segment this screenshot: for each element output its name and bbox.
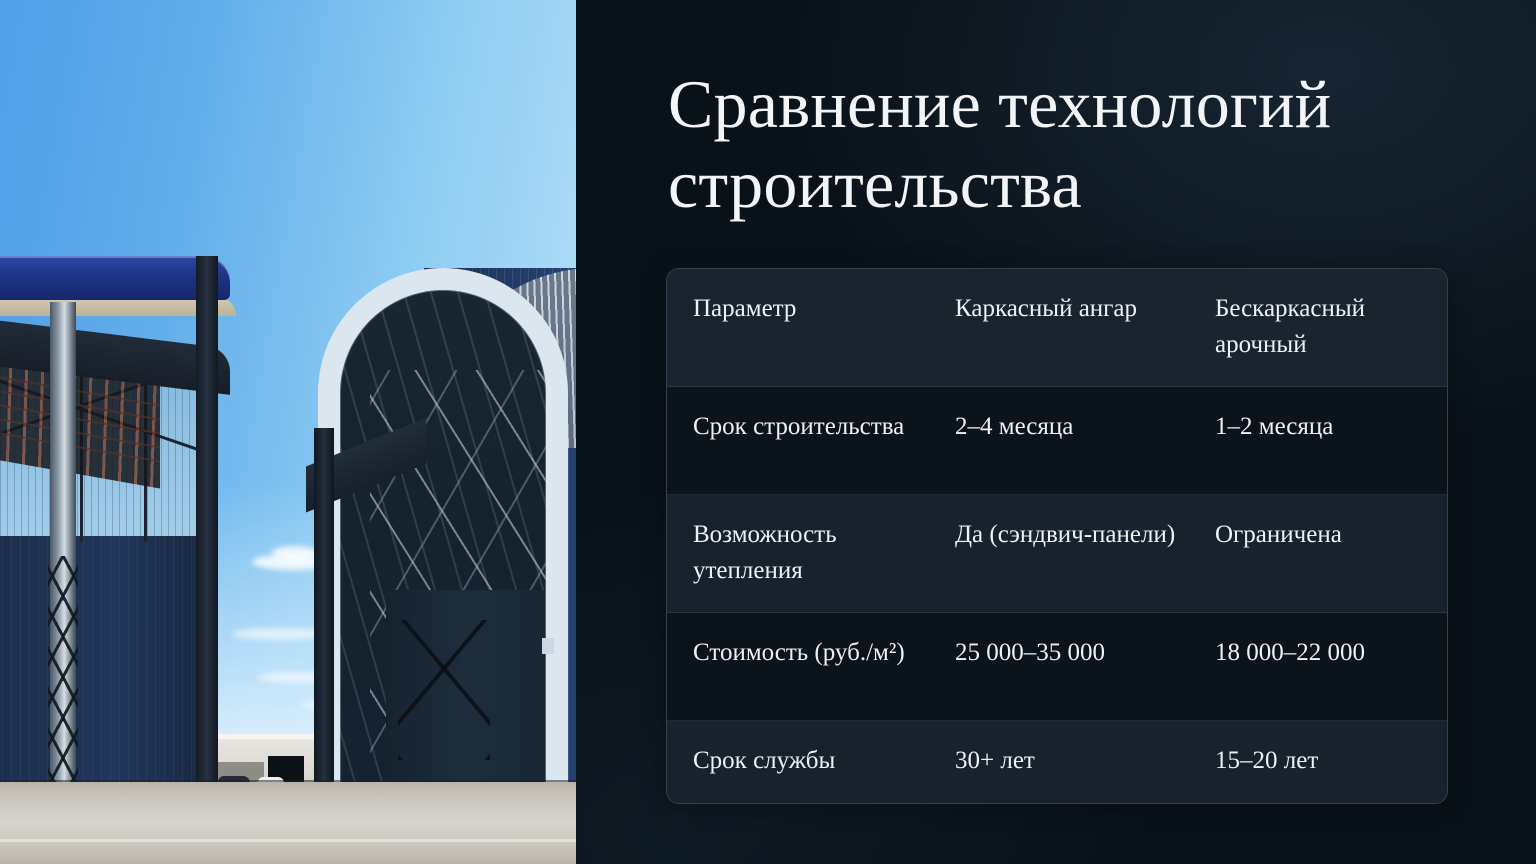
- comparison-table: Параметр Каркасный ангар Бескаркасный ар…: [666, 268, 1448, 804]
- table-row: Срок службы 30+ лет 15–20 лет: [667, 721, 1447, 803]
- column-header-parameter: Параметр: [693, 291, 955, 327]
- row-arched: 18 000–22 000: [1215, 635, 1421, 671]
- row-parameter: Срок строительства: [693, 409, 955, 445]
- table-row: Возможность утепления Да (сэндвич-панели…: [667, 495, 1447, 613]
- row-parameter: Стоимость (руб./м²): [693, 635, 955, 671]
- framed-hangar-lattice-tower: [48, 556, 78, 814]
- row-arched: 15–20 лет: [1215, 743, 1421, 779]
- row-framed: 2–4 месяца: [955, 409, 1215, 445]
- table-header-row: Параметр Каркасный ангар Бескаркасный ар…: [667, 269, 1447, 387]
- arched-hangar-white-arch: [318, 268, 568, 828]
- row-framed: Да (сэндвич-панели): [955, 517, 1215, 553]
- ground-pavement: [0, 782, 576, 864]
- page-title: Сравнение технологий строительства: [668, 64, 1478, 224]
- content-panel: Сравнение технологий строительства Парам…: [576, 0, 1536, 864]
- table-row: Срок строительства 2–4 месяца 1–2 месяца: [667, 387, 1447, 495]
- row-arched: Ограничена: [1215, 517, 1421, 553]
- arched-hangar: [306, 268, 576, 864]
- row-framed: 25 000–35 000: [955, 635, 1215, 671]
- framed-hangar: [0, 256, 240, 816]
- framed-hangar-corner-post: [196, 256, 218, 826]
- column-header-framed: Каркасный ангар: [955, 291, 1215, 327]
- row-parameter: Возможность утепления: [693, 517, 955, 588]
- row-framed: 30+ лет: [955, 743, 1215, 779]
- hangar-photo: [0, 0, 576, 864]
- slide-root: Сравнение технологий строительства Парам…: [0, 0, 1536, 864]
- row-arched: 1–2 месяца: [1215, 409, 1421, 445]
- arched-hangar-lamp: [542, 638, 554, 654]
- row-parameter: Срок службы: [693, 743, 955, 779]
- column-header-arched: Бескаркасный арочный: [1215, 291, 1421, 362]
- table-row: Стоимость (руб./м²) 25 000–35 000 18 000…: [667, 613, 1447, 721]
